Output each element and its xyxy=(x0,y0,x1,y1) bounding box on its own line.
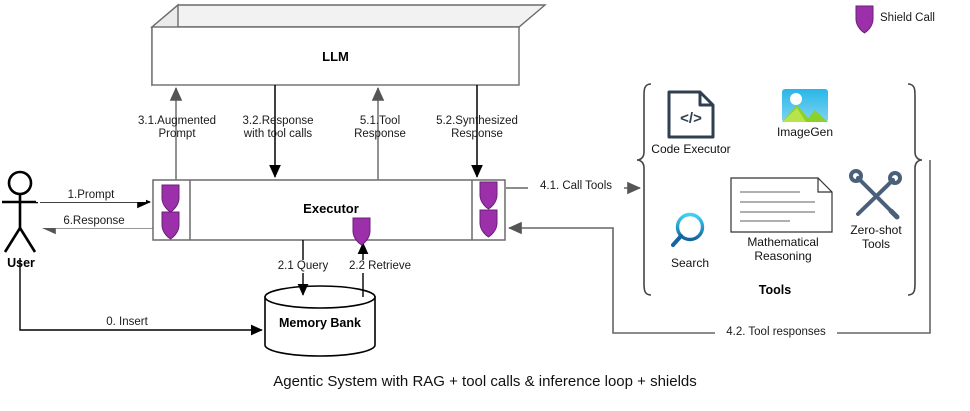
tools-group-label: Tools xyxy=(720,283,830,297)
tool-label-code-executor: Code Executor xyxy=(645,142,737,156)
edge-label-32-response-tool-calls: 3.2.Response with tool calls xyxy=(230,115,326,141)
shield-icon-legend xyxy=(856,6,873,33)
svg-text:</>: </> xyxy=(680,110,702,127)
edge-label-42-tool-responses: 4.2. Tool responses xyxy=(715,326,837,339)
tool-label-zero-shot-tools: Zero-shot Tools xyxy=(836,223,916,251)
diagram-canvas: </> LLM Executor Memory Bank User Tools … xyxy=(0,0,970,411)
tools-brace-right xyxy=(908,84,922,295)
node-llm[interactable] xyxy=(152,5,545,85)
llm-label: LLM xyxy=(152,49,519,64)
edge-label-51-tool-response: 5.1.Tool Response xyxy=(340,115,420,141)
executor-label: Executor xyxy=(190,201,472,216)
shield-icon-bottom xyxy=(353,218,370,245)
image-icon xyxy=(782,89,828,122)
edge-label-52-synthesized-response: 5.2.Synthesized Response xyxy=(428,115,526,141)
node-user[interactable] xyxy=(2,172,38,252)
tool-label-mathematical-reasoning: Mathematical Reasoning xyxy=(733,235,833,263)
edge-label-41-call-tools: 4.1. Call Tools xyxy=(528,180,624,193)
tool-label-search: Search xyxy=(655,256,725,270)
diagram-caption: Agentic System with RAG + tool calls & i… xyxy=(0,373,970,390)
memory-bank-label: Memory Bank xyxy=(265,316,375,330)
legend-shield-label: Shield Call xyxy=(880,12,970,25)
edge-label-6-response: 6.Response xyxy=(36,215,152,228)
wrench-screwdriver-icon xyxy=(851,171,900,217)
edge-label-31-augmented-prompt: 3.1.Augmented Prompt xyxy=(133,115,221,141)
code-document-icon: </> xyxy=(669,92,713,137)
edge-label-1-prompt: 1.Prompt xyxy=(36,189,146,202)
edge-label-22-retrieve: 2.2 Retrieve xyxy=(330,260,430,273)
magnifier-icon xyxy=(673,215,703,246)
formula-document-icon xyxy=(731,178,832,232)
tool-label-imagegen: ImageGen xyxy=(767,125,843,139)
user-label: User xyxy=(0,256,42,270)
tools-brace-left xyxy=(637,84,651,295)
edge-label-0-insert: 0. Insert xyxy=(62,316,192,329)
